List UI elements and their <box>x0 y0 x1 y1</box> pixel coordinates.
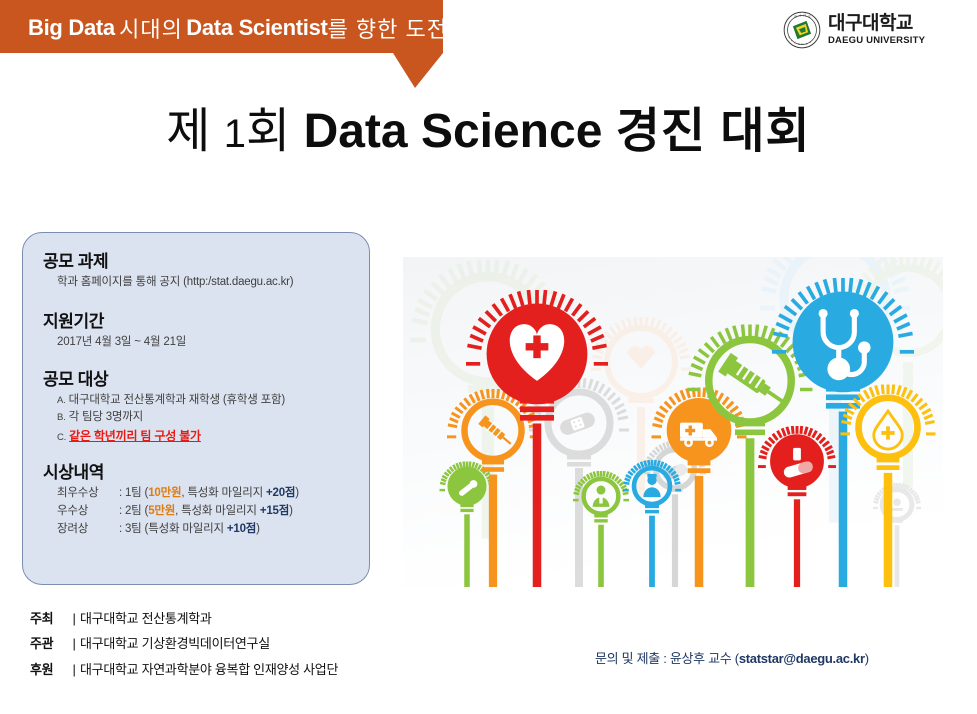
footer-divider: | <box>68 606 80 631</box>
prize-money: 5만원 <box>148 505 175 517</box>
footer-divider: | <box>68 631 80 656</box>
footer-value: 대구대학교 기상환경빅데이터연구실 <box>80 636 270 651</box>
title-number: 1 <box>224 112 246 156</box>
banner-datascientist-text: Data Scientist <box>186 15 327 41</box>
prize-money: 10만원 <box>148 487 181 499</box>
svg-text:G: G <box>798 44 800 46</box>
prize-label: 최우수상 <box>57 485 119 503</box>
footer-row: 주최|대구대학교 전산통계학과 <box>30 606 460 631</box>
logo-text-block: 대구대학교 DAEGU UNIVERSITY <box>828 14 925 46</box>
section-task-body: 학과 홈페이지를 통해 공지 (http:/stat.daegu.ac.kr) <box>57 274 369 292</box>
logo-name-english: DAEGU UNIVERSITY <box>828 36 925 46</box>
section-period: 지원기간 2017년 4월 3일 ~ 4월 21일 <box>23 307 369 352</box>
footer-organizers: 주최|대구대학교 전산통계학과 주관|대구대학교 기상환경빅데이터연구실 후원|… <box>30 606 460 682</box>
footer-label: 후원 <box>30 657 68 682</box>
contact-prefix: 문의 및 제출 : 윤상후 교수 ( <box>595 651 739 666</box>
prize-mid: , 특성화 마일리지 <box>175 505 260 517</box>
prize-points: +20점 <box>266 487 295 499</box>
contact-line: 문의 및 제출 : 윤상후 교수 (statstar@daegu.ac.kr) <box>595 648 955 667</box>
section-prizes: 시상내역 최우수상: 1팀 (10만원, 특성화 마일리지 +20점) 우수상:… <box>23 458 369 538</box>
prize-row: 최우수상: 1팀 (10만원, 특성화 마일리지 +20점) <box>57 485 369 503</box>
banner-mid-text: 시대의 <box>119 12 183 44</box>
eligibility-item-index: B. <box>57 412 66 423</box>
footer-row: 주관|대구대학교 기상환경빅데이터연구실 <box>30 631 460 656</box>
prize-close: ) <box>295 487 299 499</box>
section-prizes-body: 최우수상: 1팀 (10만원, 특성화 마일리지 +20점) 우수상: 2팀 (… <box>57 485 369 538</box>
prize-sep: : 1팀 ( <box>119 487 148 499</box>
section-task-heading: 공모 과제 <box>43 247 369 272</box>
lightbulb-graphic <box>403 257 943 587</box>
eligibility-item-index: C. <box>57 432 66 443</box>
section-eligibility: 공모 대상 A. 대구대학교 전산통계학과 재학생 (휴학생 포함) B. 각 … <box>23 365 369 447</box>
contact-suffix: ) <box>865 651 869 666</box>
section-period-line: 2017년 4월 3일 ~ 4월 21일 <box>57 334 369 352</box>
banner-bigdata-text: Big Data <box>28 15 115 41</box>
prize-row: 우수상: 2팀 (5만원, 특성화 마일리지 +15점) <box>57 503 369 521</box>
prize-sep: : 3팀 ( <box>119 523 148 535</box>
footer-value: 대구대학교 자연과학분야 융복합 인재양성 사업단 <box>80 662 338 677</box>
prize-points: +15점 <box>260 505 289 517</box>
section-eligibility-heading: 공모 대상 <box>43 365 369 390</box>
footer-divider: | <box>68 657 80 682</box>
prize-close: ) <box>256 523 260 535</box>
eligibility-item-warning-text: 같은 학년끼리 팀 구성 불가 <box>69 429 201 443</box>
title-hoe: 회 <box>246 105 290 158</box>
footer-label: 주관 <box>30 631 68 656</box>
info-panel: 공모 과제 학과 홈페이지를 통해 공지 (http:/stat.daegu.a… <box>22 232 370 585</box>
prize-row: 장려상: 3팀 (특성화 마일리지 +10점) <box>57 521 369 539</box>
eligibility-item: B. 각 팀당 3명까지 <box>57 409 369 427</box>
footer-row: 후원|대구대학교 자연과학분야 융복합 인재양성 사업단 <box>30 657 460 682</box>
footer-value: 대구대학교 전산통계학과 <box>80 611 212 626</box>
prize-close: ) <box>289 505 293 517</box>
section-prizes-heading: 시상내역 <box>43 458 369 483</box>
prize-sep: : 2팀 ( <box>119 505 148 517</box>
eligibility-item: C. 같은 학년끼리 팀 구성 불가 <box>57 427 369 447</box>
page-title: 제 1회 Data Science 경진 대회 <box>0 104 977 159</box>
eligibility-item-index: A. <box>57 395 66 406</box>
section-period-body: 2017년 4월 3일 ~ 4월 21일 <box>57 334 369 352</box>
title-english: Data Science <box>304 105 603 158</box>
logo-name-korean: 대구대학교 <box>828 14 925 33</box>
prize-mid: , 특성화 마일리지 <box>181 487 266 499</box>
contact-email[interactable]: statstar@daegu.ac.kr <box>739 651 865 666</box>
eligibility-item-text: 각 팀당 3명까지 <box>69 411 143 423</box>
section-period-heading: 지원기간 <box>43 307 369 332</box>
prize-label: 우수상 <box>57 503 119 521</box>
poster-canvas: Big Data 시대의 Data Scientist 를 향한 도전 대구대학… <box>0 0 977 714</box>
footer-label: 주최 <box>30 606 68 631</box>
banner-tail-text: 를 향한 도전 <box>328 12 448 44</box>
eligibility-item-text: 대구대학교 전산통계학과 재학생 (휴학생 포함) <box>69 394 285 406</box>
section-eligibility-body: A. 대구대학교 전산통계학과 재학생 (휴학생 포함) B. 각 팀당 3명까… <box>57 392 369 447</box>
medical-idea-lightbulbs-illustration <box>403 257 943 587</box>
title-suffix: 경진 대회 <box>616 105 811 158</box>
section-task: 공모 과제 학과 홈페이지를 통해 공지 (http:/stat.daegu.a… <box>23 247 369 292</box>
banner-title: Big Data 시대의 Data Scientist 를 향한 도전 <box>28 9 448 47</box>
prize-mid: 특성화 마일리지 <box>148 523 227 535</box>
title-prefix: 제 <box>166 105 210 158</box>
section-task-line: 학과 홈페이지를 통해 공지 (http:/stat.daegu.ac.kr) <box>57 274 369 292</box>
prize-points: +10점 <box>227 523 256 535</box>
university-logo: 대구대학 D A E G U U N I 대구대학교 DAEGU UNIVERS… <box>783 8 968 52</box>
daegu-university-emblem-icon: 대구대학 D A E G U U N I <box>783 11 821 49</box>
header-banner: Big Data 시대의 Data Scientist 를 향한 도전 <box>0 0 460 95</box>
prize-label: 장려상 <box>57 521 119 539</box>
eligibility-item: A. 대구대학교 전산통계학과 재학생 (휴학생 포함) <box>57 392 369 410</box>
